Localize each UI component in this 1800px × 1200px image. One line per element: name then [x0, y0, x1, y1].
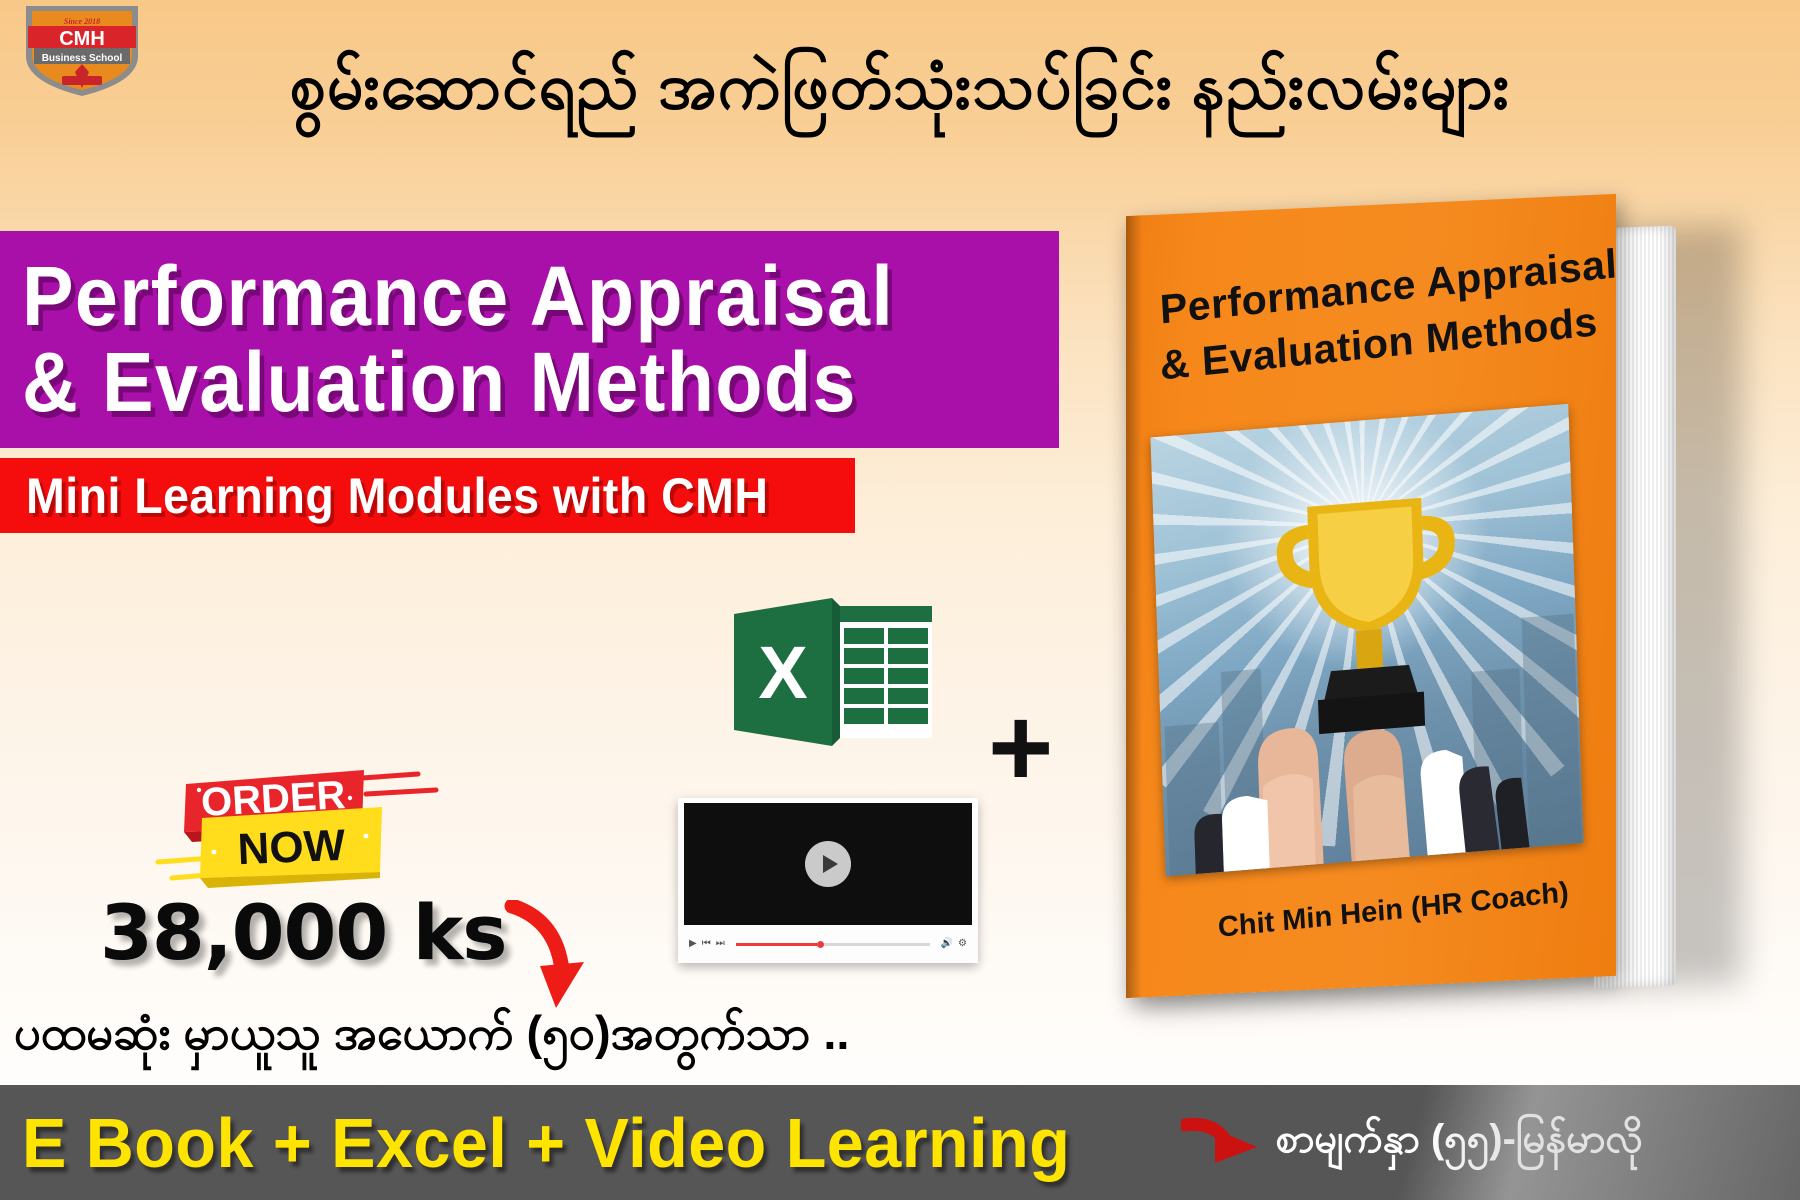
hands-raising-trophy	[1159, 643, 1584, 876]
excel-letter-x: X	[758, 631, 807, 714]
progress-scrubber[interactable]	[736, 943, 930, 946]
subtitle-banner-text: Mini Learning Modules with CMH	[26, 467, 768, 525]
title-line-2: & Evaluation Methods	[22, 340, 976, 426]
price-text: 38,000 ks	[100, 888, 507, 977]
video-controls[interactable]: ▶ ⏮ ⏭ 🔊 ⚙	[684, 932, 972, 956]
gear-icon[interactable]: ⚙	[958, 939, 967, 949]
next-icon[interactable]: ⏭	[716, 939, 725, 949]
title-line-1: Performance Appraisal	[22, 254, 976, 340]
order-badge-bottom-text: NOW	[237, 821, 347, 874]
subtitle-banner: Mini Learning Modules with CMH	[0, 458, 855, 533]
header-myanmar-headline: စွမ်းဆောင်ရည် အကဲဖြတ်သုံးသပ်ခြင်း နည်းလမ…	[0, 46, 1800, 140]
order-now-badge[interactable]: ORDER NOW	[150, 760, 500, 895]
footer-arrow-icon	[1181, 1115, 1263, 1171]
logo-since-text: Since 2018	[64, 17, 100, 26]
volume-icon[interactable]: 🔊	[941, 939, 953, 949]
progress-fill	[736, 943, 817, 946]
footer-myanmar-text: စာမျက်နှာ (၅၅)-မြန်မာလို	[1275, 1113, 1643, 1172]
microsoft-excel-icon: X	[728, 588, 938, 756]
book-author-text: Chit Min Hein (HR Coach)	[1217, 876, 1569, 944]
plus-symbol: +	[988, 692, 1053, 804]
progress-knob[interactable]	[817, 941, 824, 948]
title-banner: Performance Appraisal & Evaluation Metho…	[0, 231, 1059, 448]
promotional-poster: Since 2018 CMH Business School စွမ်းဆောင…	[0, 0, 1800, 1200]
footer-main-text: E Book + Excel + Video Learning	[22, 1103, 1070, 1183]
play-icon[interactable]	[805, 841, 851, 887]
video-player-thumbnail[interactable]: ▶ ⏮ ⏭ 🔊 ⚙	[678, 798, 978, 963]
curved-arrow-icon	[498, 900, 603, 1015]
order-badge-top-text: ORDER	[200, 773, 347, 825]
play-small-icon[interactable]: ▶	[689, 939, 697, 949]
book-spine	[1126, 215, 1142, 998]
limited-offer-myanmar-note: ပထမဆုံး မှာယူသူ အယောက် (၅၀)အတွက်သာ ..	[14, 1003, 850, 1072]
book-mockup: Performance Appraisal & Evaluation Metho…	[1120, 205, 1780, 1005]
video-screen	[684, 803, 972, 925]
footer-bar: E Book + Excel + Video Learning စာမျက်နှ…	[0, 1085, 1800, 1200]
previous-icon[interactable]: ⏮	[702, 939, 711, 949]
book-cover: Performance Appraisal & Evaluation Metho…	[1126, 194, 1616, 998]
book-cover-photo	[1150, 404, 1583, 877]
